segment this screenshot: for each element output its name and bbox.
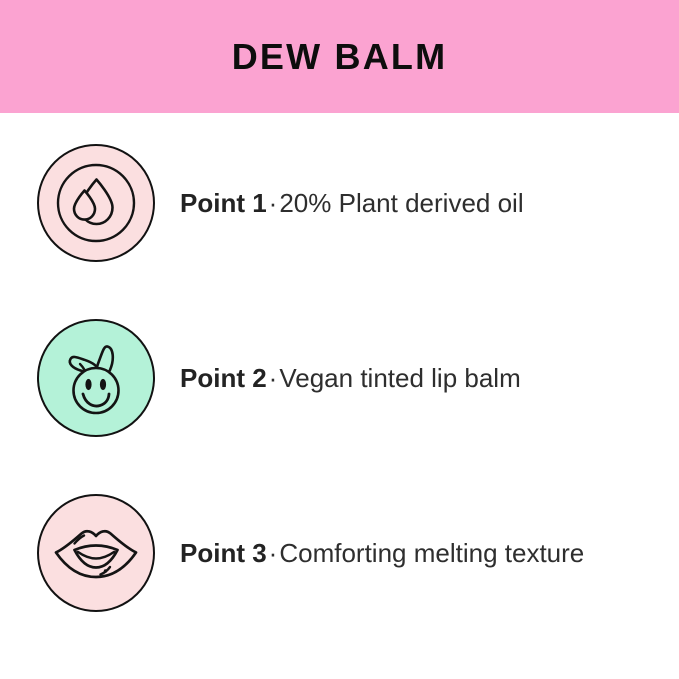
feature-description-2: Vegan tinted lip balm — [279, 363, 520, 393]
feature-text-2: Point 2·Vegan tinted lip balm — [180, 364, 521, 393]
feature-text-3: Point 3·Comforting melting texture — [180, 539, 584, 568]
feature-icon-badge-1 — [37, 144, 155, 262]
page-title: DEW BALM — [232, 39, 448, 75]
feature-point-label-3: Point 3 — [180, 538, 267, 568]
oil-droplet-icon — [50, 157, 142, 249]
feature-item-1: Point 1·20% Plant derived oil — [37, 144, 657, 262]
smiling-lips-icon — [48, 505, 144, 601]
feature-description-1: 20% Plant derived oil — [279, 188, 523, 218]
vegan-bunny-smiley-icon — [50, 332, 142, 424]
feature-separator-3: · — [267, 538, 280, 568]
header-banner: DEW BALM — [0, 0, 679, 113]
feature-description-3: Comforting melting texture — [279, 538, 584, 568]
feature-item-3: Point 3·Comforting melting texture — [37, 494, 657, 612]
feature-item-2: Point 2·Vegan tinted lip balm — [37, 319, 657, 437]
feature-point-label-2: Point 2 — [180, 363, 267, 393]
feature-text-1: Point 1·20% Plant derived oil — [180, 189, 524, 218]
feature-list: Point 1·20% Plant derived oil — [0, 113, 679, 679]
feature-point-label-1: Point 1 — [180, 188, 267, 218]
feature-icon-badge-2 — [37, 319, 155, 437]
feature-icon-badge-3 — [37, 494, 155, 612]
product-feature-infographic: DEW BALM Point 1·20% Plant derived oil — [0, 0, 679, 679]
feature-separator-1: · — [267, 188, 280, 218]
feature-separator-2: · — [267, 363, 280, 393]
